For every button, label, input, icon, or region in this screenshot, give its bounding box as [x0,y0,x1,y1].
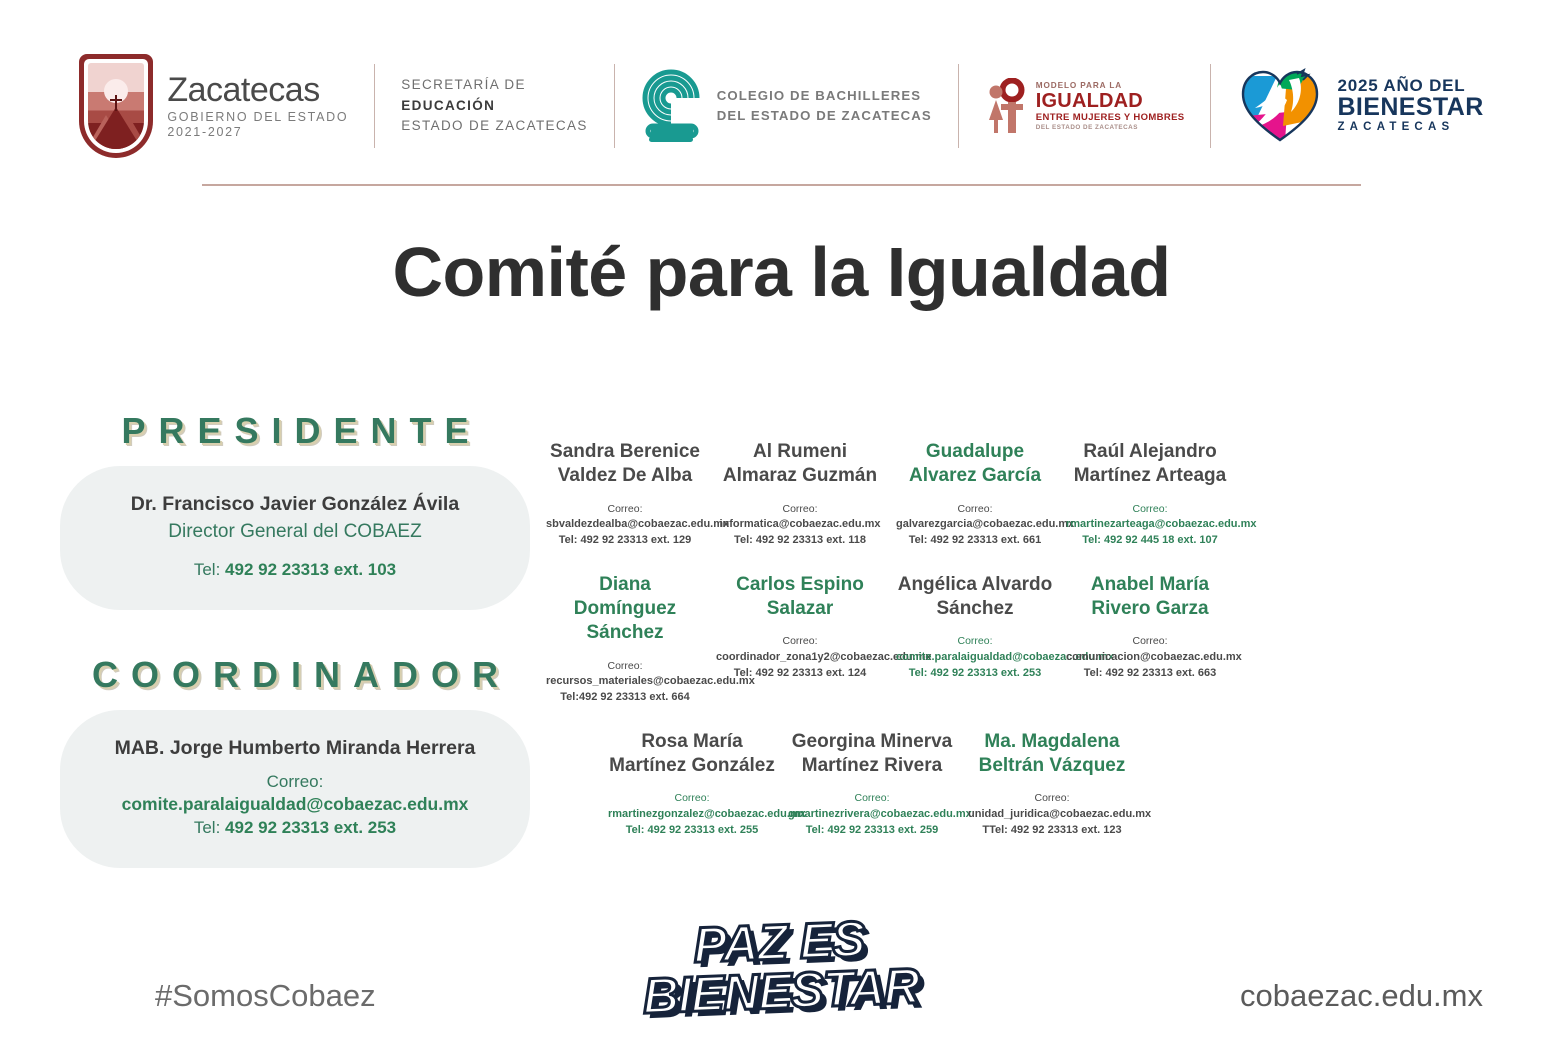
member-name: Rosa MaríaMartínez González [608,730,776,779]
cobaez-spiral-book-icon [641,68,703,144]
member-email[interactable]: unidad_juridica@cobaezac.edu.mx [968,807,1136,823]
member-contact: Correo:gmartinezrivera@cobaezac.edu.mxTe… [788,791,956,838]
member-email[interactable]: informatica@cobaezac.edu.mx [716,517,884,533]
member-name-line-2: Sánchez [896,597,1054,621]
member-correo-label: Correo: [1066,634,1234,649]
coordinador-block: COORDINADOR MAB. Jorge Humberto Miranda … [60,654,530,868]
secretaria-line-1: SECRETARÍA DE [401,75,587,96]
logo-cobaez: COLEGIO DE BACHILLERES DEL ESTADO DE ZAC… [641,56,932,156]
igualdad-line-4: DEL ESTADO DE ZACATECAS [1036,124,1185,131]
member-contact: Correo:galvarezgarcia@cobaezac.edu.mxTel… [896,502,1054,549]
secretaria-line-3: ESTADO DE ZACATECAS [401,116,587,137]
coordinador-tel-value: 492 92 23313 ext. 253 [225,818,396,837]
header-logo-bar: Zacatecas GOBIERNO DEL ESTADO 2021-2027 … [0,46,1563,166]
zacatecas-subtitle: GOBIERNO DEL ESTADO [167,110,348,124]
member-name-line-1: Georgina Minerva [788,730,956,754]
cobaez-line-1: COLEGIO DE BACHILLERES [717,86,932,106]
slogan-line-2: BIENESTAR [620,961,942,1022]
member-card: GuadalupeAlvarez GarcíaCorreo:galvarezga… [890,440,1060,549]
member-correo-label: Correo: [896,502,1054,517]
leadership-column: PRESIDENTE Dr. Francisco Javier González… [60,410,530,868]
member-correo-label: Correo: [788,791,956,806]
member-name-line-1: Ma. Magdalena [968,730,1136,754]
members-row-2: Diana DomínguezSánchezCorreo:recursos_ma… [540,573,1240,706]
website-url[interactable]: cobaezac.edu.mx [1240,978,1483,1014]
divider [1210,64,1211,148]
coordinador-heading: COORDINADOR [60,654,530,696]
member-card: Rosa MaríaMartínez GonzálezCorreo:rmarti… [602,730,782,839]
coordinador-email[interactable]: comite.paralaigualdad@cobaezac.edu.mx [90,793,500,817]
member-email[interactable]: galvarezgarcia@cobaezac.edu.mx [896,517,1054,533]
coordinador-name: MAB. Jorge Humberto Miranda Herrera [90,736,500,761]
member-name: Carlos EspinoSalazar [716,573,884,622]
hashtag-somoscobaez: #SomosCobaez [155,978,376,1014]
member-name: GuadalupeAlvarez García [896,440,1054,489]
member-correo-label: Correo: [608,791,776,806]
member-contact: Correo:rmartinezarteaga@cobaezac.edu.mxT… [1066,502,1234,549]
member-email[interactable]: sbvaldezdealba@cobaezac.edu.mx [546,517,704,533]
member-contact: Correo:recursos_materiales@cobaezac.edu.… [546,659,704,706]
member-tel: Tel: 492 92 23313 ext. 124 [716,666,884,682]
igualdad-line-2: IGUALDAD [1036,91,1185,111]
member-card: Angélica AlvardoSánchezCorreo:comite.par… [890,573,1060,706]
presidente-tel-label: Tel: [194,560,225,579]
member-name: Al RumeniAlmaraz Guzmán [716,440,884,489]
member-name-line-1: Sandra Berenice [546,440,704,464]
logo-bienestar: 2025 AÑO DEL BIENESTAR ZACATECAS [1237,56,1483,156]
cobaez-line-2: DEL ESTADO DE ZACATECAS [717,106,932,126]
zacatecas-name: Zacatecas [167,73,348,109]
bienestar-line-2: BIENESTAR [1337,95,1483,121]
member-name: Raúl AlejandroMartínez Arteaga [1066,440,1234,489]
member-card: Al RumeniAlmaraz GuzmánCorreo:informatic… [710,440,890,549]
poster-root: Zacatecas GOBIERNO DEL ESTADO 2021-2027 … [0,0,1563,1042]
member-contact: Correo:rmartinezgonzalez@cobaezac.edu.mx… [608,791,776,838]
member-correo-label: Correo: [716,502,884,517]
coordinador-card: MAB. Jorge Humberto Miranda Herrera Corr… [60,710,530,868]
member-email[interactable]: recursos_materiales@cobaezac.edu.mx [546,674,704,690]
page-title: Comité para la Igualdad [0,232,1563,312]
member-name: Ma. MagdalenaBeltrán Vázquez [968,730,1136,779]
presidente-heading: PRESIDENTE [60,410,530,452]
member-name-line-1: Al Rumeni [716,440,884,464]
divider [958,64,959,148]
igualdad-line-1: MODELO PARA LA [1036,81,1185,90]
member-correo-label: Correo: [546,659,704,674]
member-card: Carlos EspinoSalazarCorreo:coordinador_z… [710,573,890,706]
member-name-line-2: Martínez González [608,754,776,778]
member-contact: Correo:comunicacion@cobaezac.edu.mxTel: … [1066,634,1234,681]
member-tel: Tel: 492 92 23313 ext. 259 [788,823,956,839]
member-name-line-1: Raúl Alejandro [1066,440,1234,464]
secretaria-line-2: EDUCACIÓN [401,96,587,117]
member-card: Sandra BereniceValdez De AlbaCorreo:sbva… [540,440,710,549]
presidente-tel-value: 492 92 23313 ext. 103 [225,560,396,579]
zacatecas-years: 2021-2027 [167,125,348,139]
member-card: Diana DomínguezSánchezCorreo:recursos_ma… [540,573,710,706]
coordinador-correo-label: Correo: [90,771,500,793]
igualdad-line-3: ENTRE MUJERES Y HOMBRES [1036,112,1185,123]
bienestar-heart-dove-icon [1237,66,1323,146]
member-name-line-1: Anabel María [1066,573,1234,597]
logo-secretaria-educacion: SECRETARÍA DE EDUCACIÓN ESTADO DE ZACATE… [401,56,587,156]
header-rule [202,184,1361,186]
member-card: Anabel MaríaRivero GarzaCorreo:comunicac… [1060,573,1240,706]
member-name-line-1: Angélica Alvardo [896,573,1054,597]
member-tel: Tel: 492 92 23313 ext. 118 [716,533,884,549]
member-name-line-2: Beltrán Vázquez [968,754,1136,778]
presidente-tel: Tel: 492 92 23313 ext. 103 [90,559,500,582]
presidente-role: Director General del COBAEZ [90,519,500,545]
member-correo-label: Correo: [716,634,884,649]
members-row-1: Sandra BereniceValdez De AlbaCorreo:sbva… [540,440,1240,549]
igualdad-figures-icon [985,78,1029,134]
member-email[interactable]: comunicacion@cobaezac.edu.mx [1066,650,1234,666]
member-name-line-2: Valdez De Alba [546,464,704,488]
member-contact: Correo:sbvaldezdealba@cobaezac.edu.mxTel… [546,502,704,549]
presidente-card: Dr. Francisco Javier González Ávila Dire… [60,466,530,610]
member-tel: Tel: 492 92 23313 ext. 661 [896,533,1054,549]
bienestar-line-3: ZACATECAS [1337,121,1483,135]
member-name-line-1: Rosa María [608,730,776,754]
member-email[interactable]: comite.paralaigualdad@cobaezac.edu.mx [896,650,1054,666]
member-name: Diana DomínguezSánchez [546,573,704,646]
member-tel: Tel: 492 92 23313 ext. 663 [1066,666,1234,682]
member-email[interactable]: coordinador_zona1y2@cobaezac.edu.mx [716,650,884,666]
member-email[interactable]: rmartinezarteaga@cobaezac.edu.mx [1066,517,1234,533]
member-name-line-1: Diana Domínguez [546,573,704,622]
paz-es-bienestar-slogan: PAZ ES BIENESTAR [618,912,942,1022]
member-name-line-2: Martínez Arteaga [1066,464,1234,488]
member-contact: Correo:comite.paralaigualdad@cobaezac.ed… [896,634,1054,681]
divider [374,64,375,148]
member-name-line-1: Carlos Espino [716,573,884,597]
member-card: Georgina MinervaMartínez RiveraCorreo:gm… [782,730,962,839]
presidente-block: PRESIDENTE Dr. Francisco Javier González… [60,410,530,610]
members-row-3: Rosa MaríaMartínez GonzálezCorreo:rmarti… [540,730,1240,839]
presidente-name: Dr. Francisco Javier González Ávila [90,492,500,517]
logo-zacatecas: Zacatecas GOBIERNO DEL ESTADO 2021-2027 [79,56,348,156]
member-tel: Tel: 492 92 445 18 ext. 107 [1066,533,1234,549]
member-name: Angélica AlvardoSánchez [896,573,1054,622]
member-tel: Tel: 492 92 23313 ext. 129 [546,533,704,549]
member-tel: Tel: 492 92 23313 ext. 253 [896,666,1054,682]
member-correo-label: Correo: [896,634,1054,649]
coordinador-tel-label: Tel: [194,818,225,837]
coordinador-tel: Tel: 492 92 23313 ext. 253 [90,817,500,840]
member-name-line-1: Guadalupe [896,440,1054,464]
zacatecas-shield-icon [79,54,153,158]
logo-modelo-igualdad: MODELO PARA LA IGUALDAD ENTRE MUJERES Y … [985,56,1185,156]
member-name: Georgina MinervaMartínez Rivera [788,730,956,779]
member-tel: TTel: 492 92 23313 ext. 123 [968,823,1136,839]
member-contact: Correo:coordinador_zona1y2@cobaezac.edu.… [716,634,884,681]
member-card: Raúl AlejandroMartínez ArteagaCorreo:rma… [1060,440,1240,549]
divider [614,64,615,148]
member-name: Anabel MaríaRivero Garza [1066,573,1234,622]
member-correo-label: Correo: [1066,502,1234,517]
member-tel: Tel:492 92 23313 ext. 664 [546,690,704,706]
member-name-line-2: Almaraz Guzmán [716,464,884,488]
member-name: Sandra BereniceValdez De Alba [546,440,704,489]
member-name-line-2: Alvarez García [896,464,1054,488]
member-contact: Correo:unidad_juridica@cobaezac.edu.mxTT… [968,791,1136,838]
member-name-line-2: Martínez Rivera [788,754,956,778]
member-card: Ma. MagdalenaBeltrán VázquezCorreo:unida… [962,730,1142,839]
member-tel: Tel: 492 92 23313 ext. 255 [608,823,776,839]
member-email[interactable]: rmartinezgonzalez@cobaezac.edu.mx [608,807,776,823]
member-correo-label: Correo: [968,791,1136,806]
member-name-line-2: Sánchez [546,621,704,645]
member-contact: Correo:informatica@cobaezac.edu.mxTel: 4… [716,502,884,549]
member-name-line-2: Rivero Garza [1066,597,1234,621]
members-grid: Sandra BereniceValdez De AlbaCorreo:sbva… [540,440,1240,838]
member-correo-label: Correo: [546,502,704,517]
member-name-line-2: Salazar [716,597,884,621]
member-email[interactable]: gmartinezrivera@cobaezac.edu.mx [788,807,956,823]
